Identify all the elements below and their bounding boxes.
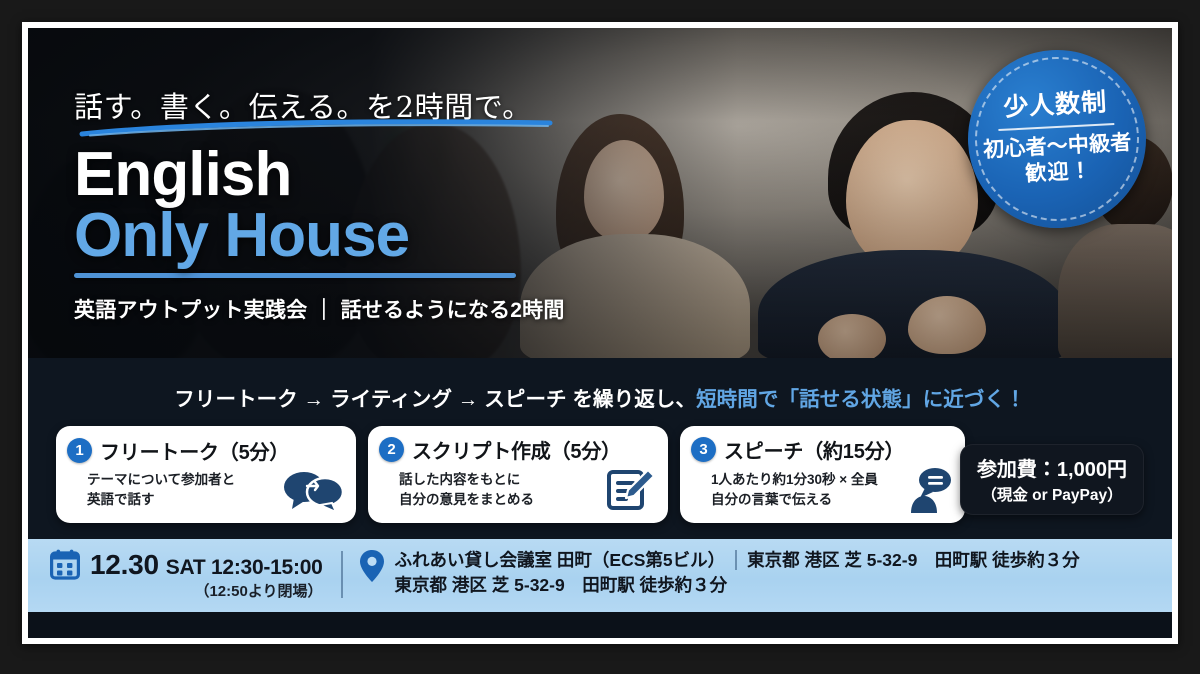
price-box: 参加費：1,000円 （現金 or PayPay） xyxy=(960,444,1144,515)
title-line-onlyhouse: Only House xyxy=(74,205,565,266)
step-card-2-head: 2 スクリプト作成（5分） xyxy=(379,435,656,464)
footer-divider xyxy=(341,551,343,598)
venue-text: ふれあい貸し会議室 田町（ECS第5ビル） 東京都 港区 芝 5-32-9 田町… xyxy=(395,549,1080,597)
badge-line-2: 初心者〜中級者 xyxy=(983,130,1133,164)
step-card-2-body: 話した内容をもとに 自分の意見をまとめる xyxy=(379,467,656,513)
date-text: 12.30 SAT 12:30-15:00 （12:50より閉場） xyxy=(90,549,323,600)
note-pencil-icon xyxy=(606,467,656,513)
tagline-highlight: 短時間で「話せる状態」に近づく！ xyxy=(696,388,1026,411)
venue-name: ふれあい貸し会議室 田町（ECS第5ビル） xyxy=(395,549,726,572)
event-date: 12.30 xyxy=(90,549,159,580)
step-card-3[interactable]: 3 スピーチ（約15分） 1人あたり約1分30秒 × 全員 自分の言葉で伝える xyxy=(680,426,965,523)
title-underline xyxy=(74,273,516,278)
price-amount: 参加費：1,000円 xyxy=(977,453,1127,482)
step-card-3-body: 1人あたり約1分30秒 × 全員 自分の言葉で伝える xyxy=(691,467,953,513)
map-pin-icon xyxy=(359,549,385,588)
date-main-line: 12.30 SAT 12:30-15:00 xyxy=(90,549,323,581)
badge-line-1: 少人数制 xyxy=(1003,89,1108,122)
step-card-2-line-2: 自分の意見をまとめる xyxy=(399,490,534,510)
venue-address: 東京都 港区 芝 5-32-9 田町駅 徒歩約３分 xyxy=(747,549,1080,572)
title-line-english: English xyxy=(74,144,565,205)
event-day-time: SAT 12:30-15:00 xyxy=(166,556,323,579)
step-card-1-line-1: テーマについて参加者と xyxy=(87,470,235,490)
step-card-list: 1 フリートーク（5分） テーマについて参加者と 英語で話す xyxy=(28,426,1172,523)
date-block: 12.30 SAT 12:30-15:00 （12:50より閉場） xyxy=(50,549,341,600)
venue-row-1: ふれあい貸し会議室 田町（ECS第5ビル） 東京都 港区 芝 5-32-9 田町… xyxy=(395,549,1080,572)
tagline-plain: フリートーク → ライティング → スピーチ を繰り返し、 xyxy=(174,388,696,411)
program-tagline: フリートーク → ライティング → スピーチ を繰り返し、短時間で「話せる状態」… xyxy=(28,382,1172,412)
step-card-2-line-1: 話した内容をもとに xyxy=(399,470,534,490)
event-info-bar: 12.30 SAT 12:30-15:00 （12:50より閉場） xyxy=(28,539,1172,612)
poster-frame: 話す。書く。伝える。を2時間で。 English Only House 英語アウ… xyxy=(22,22,1178,644)
step-card-1-line-2: 英語で話す xyxy=(87,490,235,510)
step-card-2-lines: 話した内容をもとに 自分の意見をまとめる xyxy=(379,470,534,509)
price-payment-methods: （現金 or PayPay） xyxy=(977,483,1127,505)
step-number-badge-2: 2 xyxy=(379,437,404,462)
hero-kicker-wrap: 話す。書く。伝える。を2時間で。 xyxy=(74,84,532,132)
step-card-3-line-1: 1人あたり約1分30秒 × 全員 xyxy=(711,470,878,490)
step-card-1-lines: テーマについて参加者と 英語で話す xyxy=(67,470,235,509)
poster-canvas: 話す。書く。伝える。を2時間で。 English Only House 英語アウ… xyxy=(0,0,1200,674)
calendar-icon xyxy=(50,549,80,585)
step-card-1-title: フリートーク（5分） xyxy=(100,436,289,465)
event-close-note: （12:50より閉場） xyxy=(90,583,323,600)
hero-section: 話す。書く。伝える。を2時間で。 English Only House 英語アウ… xyxy=(28,28,1172,358)
badge-line-3: 歓迎！ xyxy=(1025,158,1093,188)
step-card-3-head: 3 スピーチ（約15分） xyxy=(691,435,953,464)
page-title: English Only House xyxy=(74,144,565,267)
speech-bubbles-icon xyxy=(282,468,344,512)
step-card-2[interactable]: 2 スクリプト作成（5分） 話した内容をもとに 自分の意見をまとめる xyxy=(368,426,668,523)
step-number-badge-3: 3 xyxy=(691,437,716,462)
hero-subtitle: 英語アウトプット実践会 ｜ 話せるようになる2時間 xyxy=(74,294,565,324)
venue-block: ふれあい貸し会議室 田町（ECS第5ビル） 東京都 港区 芝 5-32-9 田町… xyxy=(359,549,1150,597)
step-card-1-head: 1 フリートーク（5分） xyxy=(67,436,344,465)
badge-divider xyxy=(998,123,1114,131)
step-card-3-title: スピーチ（約15分） xyxy=(724,435,904,464)
step-card-3-line-2: 自分の言葉で伝える xyxy=(711,490,878,510)
venue-address-second: 東京都 港区 芝 5-32-9 田町駅 徒歩約３分 xyxy=(395,574,1080,597)
blue-swoosh-underline xyxy=(80,120,552,136)
flyer: 話す。書く。伝える。を2時間で。 English Only House 英語アウ… xyxy=(28,28,1172,638)
step-card-1[interactable]: 1 フリートーク（5分） テーマについて参加者と 英語で話す xyxy=(56,426,356,523)
person-speech-icon xyxy=(907,467,953,513)
program-section: フリートーク → ライティング → スピーチ を繰り返し、短時間で「話せる状態」… xyxy=(28,358,1172,539)
step-number-badge-1: 1 xyxy=(67,438,92,463)
step-card-1-body: テーマについて参加者と 英語で話す xyxy=(67,468,344,512)
venue-separator xyxy=(735,550,737,570)
step-card-3-lines: 1人あたり約1分30秒 × 全員 自分の言葉で伝える xyxy=(691,470,878,509)
hero-text-block: 話す。書く。伝える。を2時間で。 English Only House 英語アウ… xyxy=(74,84,565,324)
step-card-2-title: スクリプト作成（5分） xyxy=(412,435,621,464)
